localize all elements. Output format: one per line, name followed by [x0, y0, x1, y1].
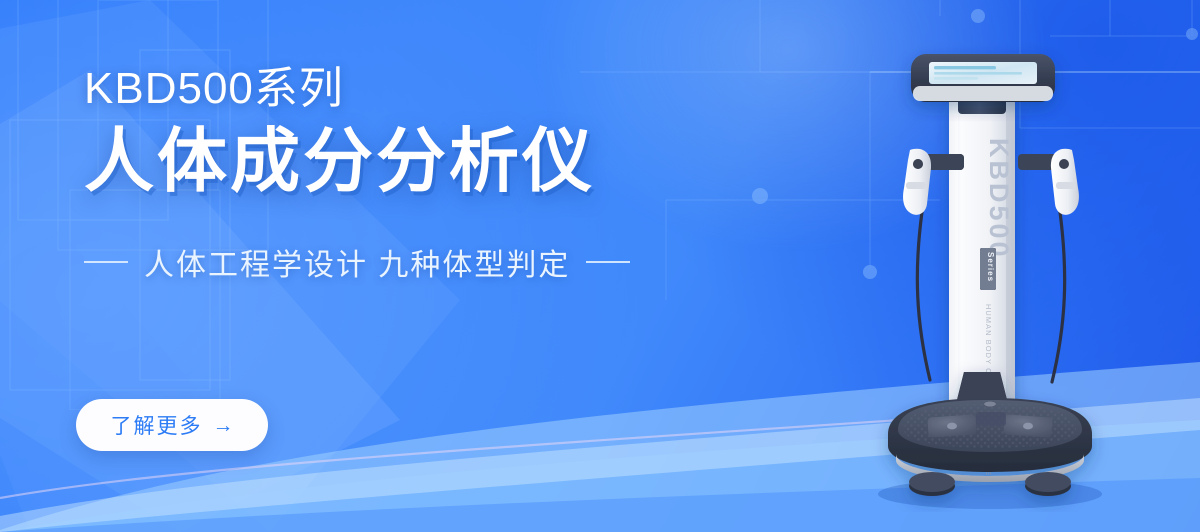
base-platform-icon	[888, 372, 1092, 496]
hero-subtitle: 人体工程学设计 九种体型判定	[84, 240, 724, 284]
arrow-right-icon: →	[213, 415, 234, 436]
dash-right-icon	[586, 261, 630, 263]
right-handle-icon	[1018, 149, 1079, 215]
device-illustration: KBD500 Series HUMAN BODY COMPOSITION ANA…	[836, 42, 1136, 512]
display-screen-icon	[911, 54, 1055, 102]
device-badge: Series	[980, 248, 996, 290]
learn-more-button[interactable]: 了解更多 →	[76, 399, 268, 451]
learn-more-label: 了解更多	[111, 410, 203, 440]
device-badge-text: Series	[986, 252, 995, 282]
product-series-label: KBD500系列	[84, 66, 724, 112]
hero-copy: KBD500系列 人体成分分析仪 人体工程学设计 九种体型判定	[84, 66, 724, 284]
page-title: 人体成分分析仪	[84, 124, 724, 198]
hero-subtitle-text: 人体工程学设计 九种体型判定	[144, 240, 570, 284]
device-brand-text: KBD500	[984, 138, 1014, 260]
dash-left-icon	[84, 261, 128, 263]
product-hero-banner: KBD500系列 人体成分分析仪 人体工程学设计 九种体型判定 了解更多 →	[0, 0, 1200, 532]
